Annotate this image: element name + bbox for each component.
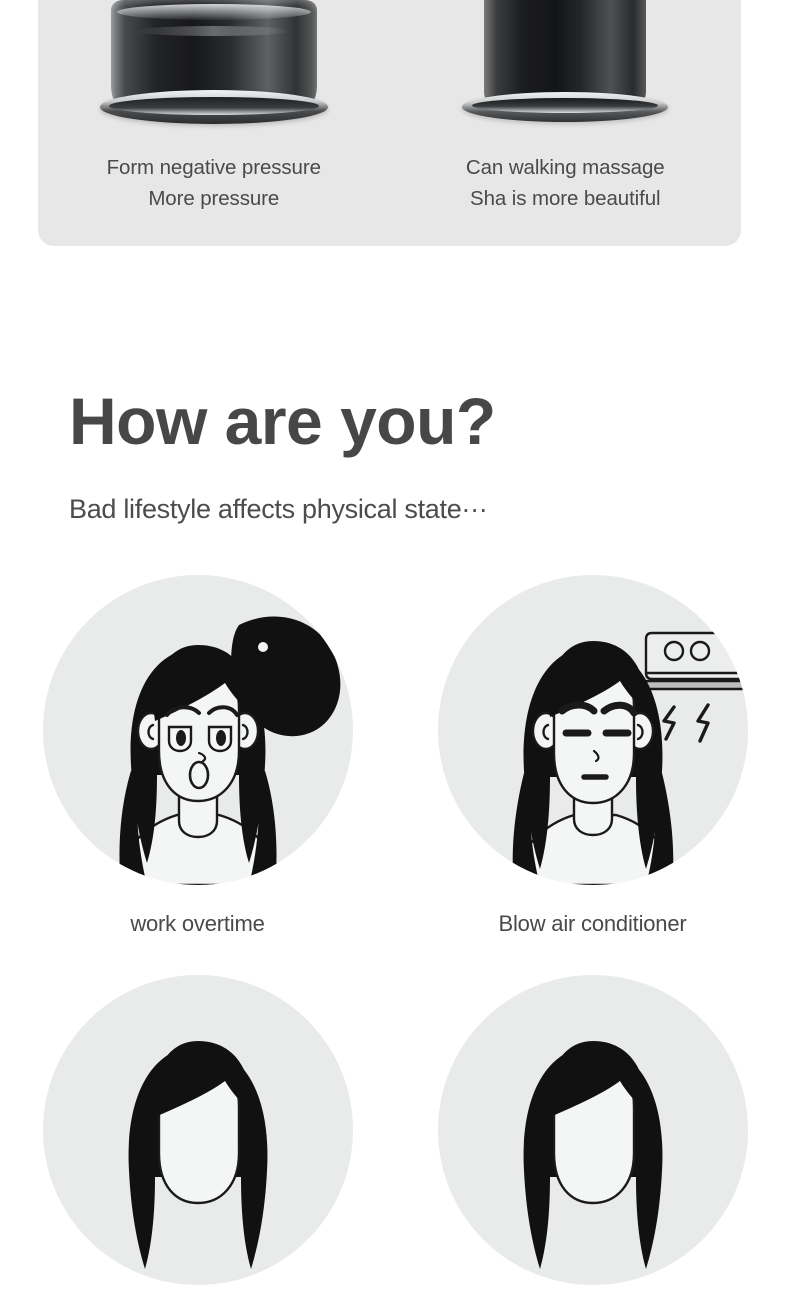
woman-portrait-partial-illustration [43, 975, 353, 1285]
ac-vent-dial-left [665, 642, 683, 660]
product-feature-item-0: Form negative pressure More pressure [38, 0, 390, 246]
product-feature-card: Form negative pressure More pressure Can… [38, 0, 741, 246]
page-subtitle: Bad lifestyle affects physical state··· [69, 489, 487, 529]
woman-with-crescent-moon-illustration [43, 575, 353, 885]
product-image-stage [38, 0, 390, 132]
symptom-label: Blow air conditioner [478, 907, 708, 941]
symptom-illustration-circle [43, 975, 353, 1285]
product-feature-grid: Form negative pressure More pressure Can… [38, 0, 741, 246]
cupping-cup-straight-cylinder-icon [462, 0, 668, 132]
symptom-row: work overtime [0, 575, 790, 941]
mouth-surprised [190, 762, 208, 788]
pupil-left [176, 730, 186, 746]
cold-air-squiggle-right [698, 705, 708, 741]
symptom-illustration-circle [438, 975, 748, 1285]
product-caption-line-2: More pressure [38, 183, 390, 214]
symptom-row [0, 975, 790, 1307]
symptom-label: work overtime [83, 907, 313, 941]
symptom-item-blow-air-conditioner: Blow air conditioner [395, 575, 790, 941]
product-caption-line-2: Sha is more beautiful [390, 183, 742, 214]
symptom-illustration-circle [438, 575, 748, 885]
star-icon [258, 642, 268, 652]
woman-with-air-conditioner-illustration [438, 575, 748, 885]
product-feature-item-1: Can walking massage Sha is more beautifu… [390, 0, 742, 246]
cupping-cup-flared-base-icon [100, 0, 328, 132]
cup-rim [100, 90, 328, 124]
symptom-item-work-overtime: work overtime [0, 575, 395, 941]
product-image-stage [390, 0, 742, 132]
symptom-item-3 [0, 975, 395, 1307]
pupil-right [216, 730, 226, 746]
product-caption-0: Form negative pressure More pressure [38, 152, 390, 214]
cold-air-squiggle-left [664, 707, 674, 739]
product-caption-line-1: Form negative pressure [38, 152, 390, 183]
symptom-grid: work overtime [0, 575, 790, 1307]
product-caption-line-1: Can walking massage [390, 152, 742, 183]
page-title: How are you? [69, 382, 496, 460]
ac-vent-dial-right [691, 642, 709, 660]
product-caption-1: Can walking massage Sha is more beautifu… [390, 152, 742, 214]
symptom-item-4 [395, 975, 790, 1307]
ac-louver [643, 681, 748, 689]
woman-portrait-partial-illustration [438, 975, 748, 1285]
cup-rim [462, 92, 668, 122]
air-conditioner-icon [643, 633, 748, 689]
symptom-illustration-circle [43, 575, 353, 885]
